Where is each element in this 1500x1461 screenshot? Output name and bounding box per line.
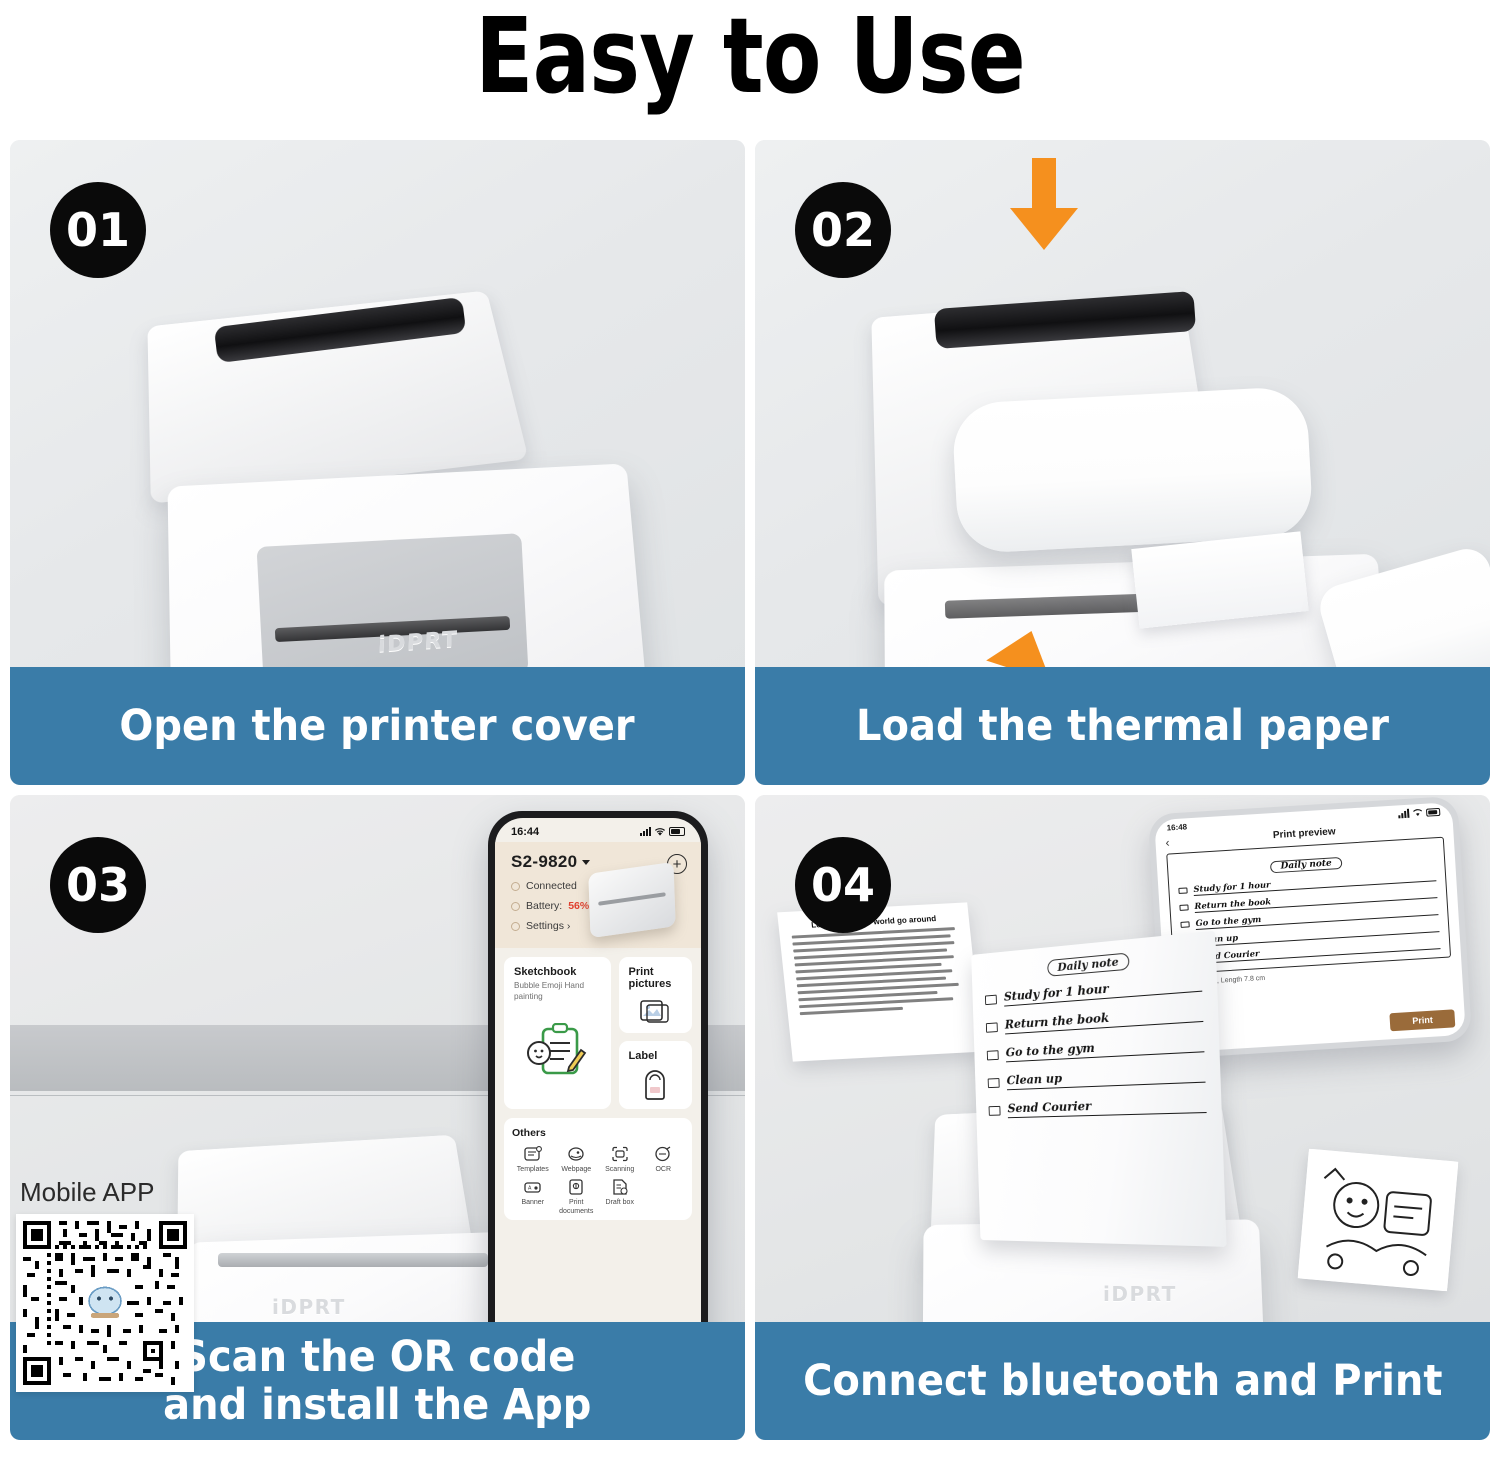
others-label: Print documents: [556, 1199, 598, 1216]
battery-dot-icon: [511, 902, 520, 911]
card-sketchbook-title: Sketchbook: [514, 966, 601, 978]
qr-block: Mobile APP: [16, 1177, 194, 1392]
app-cards: Sketchbook Bubble Emoji Hand painting: [495, 948, 701, 1118]
ocr-icon: [653, 1145, 673, 1163]
receipt-item-text: Send Courier: [1007, 1095, 1206, 1118]
printer-brand-logo: iDPRT: [272, 1295, 346, 1319]
battery-value: 56%: [568, 900, 589, 912]
others-item-empty: [643, 1178, 685, 1216]
printed-document: Love makes the world go around: [777, 902, 983, 1061]
infographic-page: Easy to Use iDPRT 01 Open the printer co…: [0, 0, 1500, 1461]
others-label: OCR: [655, 1166, 671, 1174]
step-caption-3-line2: and install the App: [163, 1381, 591, 1429]
checkbox-icon: [989, 1105, 1001, 1115]
others-item-templates[interactable]: Templates: [512, 1145, 554, 1174]
card-label-title: Label: [629, 1050, 682, 1062]
checkbox-icon: [985, 994, 997, 1004]
draft-box-icon: [610, 1178, 630, 1196]
step-panel-1: iDPRT 01 Open the printer cover: [10, 140, 745, 785]
doc-line: [800, 1007, 903, 1015]
banner-icon: A: [523, 1178, 543, 1196]
scan-icon: [610, 1145, 630, 1163]
others-title: Others: [512, 1127, 684, 1139]
receipt-item-text: Study for 1 hour: [1004, 974, 1203, 1007]
checkbox-icon: [1180, 921, 1189, 928]
others-section: Others Templates: [504, 1118, 692, 1220]
page-title: Easy to Use: [135, 0, 1365, 116]
chevron-left-icon[interactable]: ‹: [1165, 835, 1170, 849]
battery-icon: [669, 827, 685, 836]
step-panel-3: iDPRT 16:44: [10, 795, 745, 1440]
battery-label: Battery:: [526, 900, 562, 912]
chevron-down-icon: [582, 860, 590, 865]
step-caption-3-line1: Scan the OR code: [163, 1333, 591, 1381]
device-name: S2-9820: [511, 852, 577, 872]
others-item-draft-box[interactable]: Draft box: [599, 1178, 641, 1216]
others-label: Webpage: [561, 1166, 591, 1174]
printed-receipt: Daily note Study for 1 hour Return the b…: [971, 931, 1226, 1247]
battery-icon: [1426, 807, 1440, 816]
step-caption-4: Connect bluetooth and Print: [755, 1322, 1490, 1440]
printer-paper-bay: [257, 533, 529, 687]
app-hero-section: + S2-9820 Connected: [495, 842, 701, 948]
step-badge-2: 02: [795, 182, 891, 278]
step-caption-4-line1: Connect bluetooth and Print: [803, 1357, 1442, 1405]
printer-head-slot: [218, 1253, 488, 1267]
signal-icon: [640, 827, 651, 836]
others-grid: Templates Webpage: [512, 1145, 684, 1216]
step-badge-1: 01: [50, 182, 146, 278]
receipt-item-text: Clean up: [1006, 1065, 1205, 1090]
step-panel-4: iDPRT Daily note Study for 1 hour Return…: [755, 795, 1490, 1440]
receipt-item: Return the book: [986, 1004, 1204, 1035]
step-badge-3: 03: [50, 837, 146, 933]
status-time: 16:44: [511, 826, 539, 838]
tag-icon: [629, 1070, 682, 1100]
thermal-paper-roll: [951, 386, 1313, 554]
step-caption-2: Load the thermal paper: [755, 667, 1490, 785]
receipt-item-text: Go to the gym: [1006, 1035, 1205, 1063]
phone-device: 16:44: [488, 811, 708, 1411]
connection-status: Connected: [526, 880, 577, 892]
others-item-webpage[interactable]: Webpage: [556, 1145, 598, 1174]
others-label: Draft box: [606, 1199, 634, 1207]
phone-screen: 16:44: [495, 818, 701, 1404]
settings-label: Settings ›: [526, 920, 570, 932]
step-badge-4: 04: [795, 837, 891, 933]
status-dot-icon: [511, 882, 520, 891]
receipt-item: Go to the gym: [987, 1035, 1205, 1064]
card-print-pictures-title: Print pictures: [629, 966, 682, 990]
printed-sticker: [1298, 1149, 1459, 1292]
card-label[interactable]: Label: [619, 1041, 692, 1109]
clipboard-pencil-icon: [514, 1002, 601, 1100]
steps-grid: iDPRT 01 Open the printer cover iDPRT: [10, 140, 1490, 1455]
checkbox-icon: [1179, 904, 1188, 911]
templates-icon: [523, 1145, 543, 1163]
others-label: Scanning: [605, 1166, 634, 1174]
webpage-icon: [566, 1145, 586, 1163]
settings-dot-icon: [511, 922, 520, 931]
status-bar: 16:44: [495, 818, 701, 842]
qr-center-logo: [89, 1287, 121, 1317]
status-icons: [640, 827, 685, 837]
preview-title: Print preview: [1273, 826, 1336, 841]
wifi-icon: [654, 827, 666, 837]
preview-note-title: Daily note: [1270, 857, 1342, 873]
checkbox-icon: [1178, 887, 1187, 894]
others-item-ocr[interactable]: OCR: [643, 1145, 685, 1174]
receipt-item: Clean up: [988, 1065, 1206, 1091]
qr-pattern: [23, 1221, 187, 1385]
receipt-item: Send Courier: [988, 1095, 1206, 1118]
card-sketchbook[interactable]: Sketchbook Bubble Emoji Hand painting: [504, 957, 611, 1109]
step-caption-2-line1: Load the thermal paper: [856, 702, 1389, 750]
others-label: Banner: [521, 1199, 544, 1207]
checkbox-icon: [988, 1078, 1000, 1088]
device-thumbnail: [588, 862, 675, 938]
receipt-note-title: Daily note: [1047, 952, 1130, 976]
card-print-pictures[interactable]: Print pictures: [619, 957, 692, 1033]
cartoon-sticker-icon: [1298, 1149, 1459, 1292]
svg-text:A: A: [528, 1186, 532, 1192]
step-caption-1: Open the printer cover: [10, 667, 745, 785]
image-icon: [629, 998, 682, 1024]
others-label: Templates: [517, 1166, 549, 1174]
checkbox-icon: [987, 1050, 999, 1060]
others-item-banner[interactable]: A Banner: [512, 1178, 554, 1216]
others-item-print-documents[interactable]: Print documents: [556, 1178, 598, 1216]
qr-canvas: [23, 1221, 187, 1385]
checkbox-icon: [986, 1022, 998, 1032]
printer-brand-logo: iDPRT: [1103, 1282, 1177, 1306]
qr-label: Mobile APP: [20, 1177, 194, 1208]
others-item-scanning[interactable]: Scanning: [599, 1145, 641, 1174]
document-icon: [566, 1178, 586, 1196]
step-caption-1-line1: Open the printer cover: [120, 702, 635, 750]
print-button[interactable]: Print: [1390, 1009, 1455, 1031]
step-panel-2: iDPRT 02 Load th: [755, 140, 1490, 785]
receipt-item-text: Return the book: [1005, 1004, 1204, 1034]
card-sketchbook-subtitle: Bubble Emoji Hand painting: [514, 981, 601, 1002]
qr-code[interactable]: [16, 1214, 194, 1392]
